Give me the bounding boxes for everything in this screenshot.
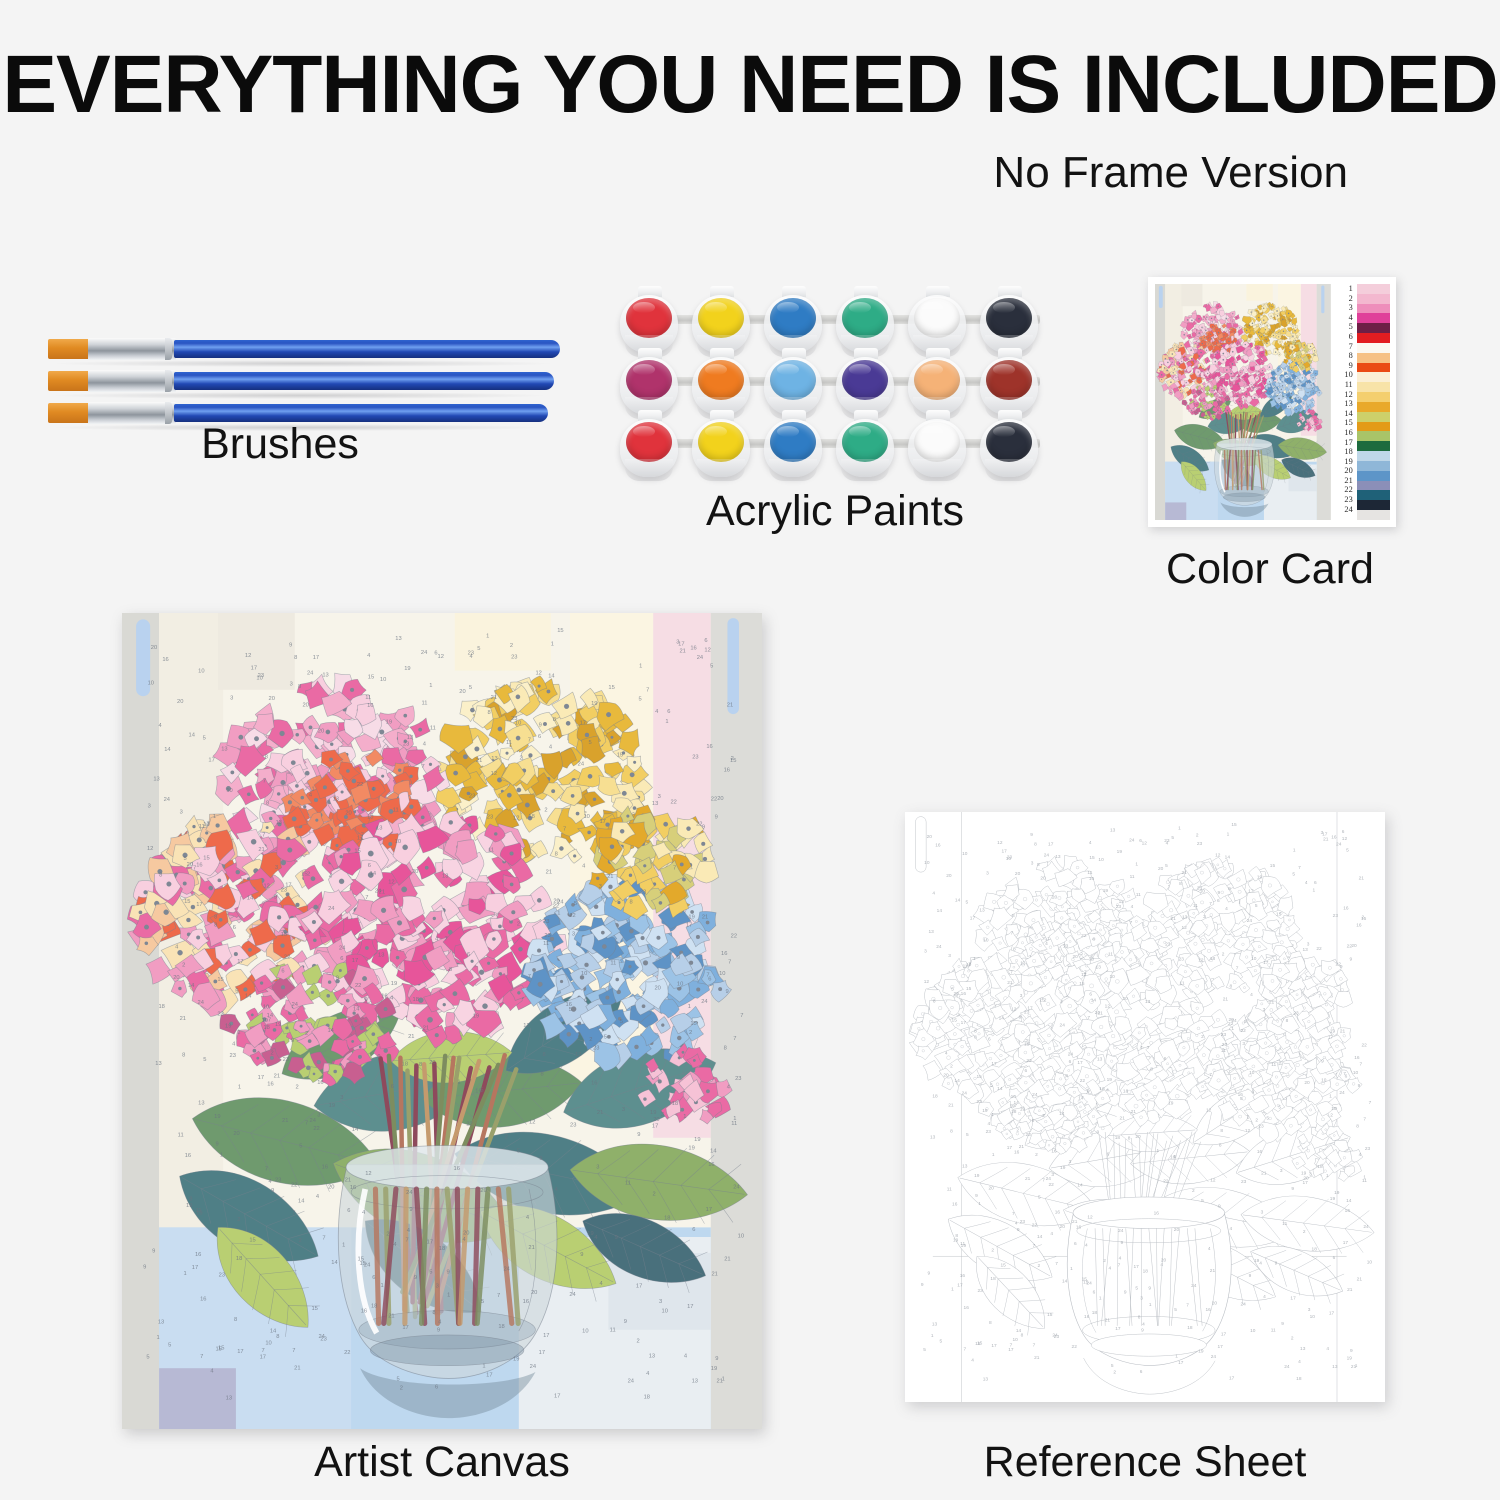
svg-text:22: 22: [1081, 933, 1087, 938]
svg-text:14: 14: [997, 1086, 1003, 1091]
pot-gloss-highlight: [921, 364, 943, 375]
paint-pot-white: [906, 417, 968, 479]
svg-text:10: 10: [1013, 1337, 1019, 1342]
svg-text:10: 10: [263, 1005, 269, 1011]
legend-number: 4: [1335, 313, 1353, 323]
svg-text:5: 5: [1165, 863, 1168, 868]
svg-text:5: 5: [517, 1149, 520, 1155]
svg-text:1: 1: [1157, 1148, 1160, 1153]
svg-text:15: 15: [1270, 863, 1276, 868]
svg-text:24: 24: [328, 906, 335, 912]
svg-text:1: 1: [1326, 1173, 1329, 1178]
legend-number: 5: [1335, 322, 1353, 332]
svg-text:8: 8: [189, 1197, 192, 1203]
svg-text:9: 9: [1019, 1014, 1022, 1019]
svg-text:18: 18: [1143, 1269, 1149, 1274]
svg-text:5: 5: [569, 1007, 572, 1013]
svg-text:17: 17: [1329, 1311, 1335, 1316]
svg-text:12: 12: [523, 1023, 529, 1029]
svg-text:21: 21: [1120, 1115, 1126, 1120]
svg-text:17: 17: [599, 819, 605, 825]
svg-text:24: 24: [406, 1190, 413, 1196]
svg-text:7: 7: [1042, 1178, 1045, 1183]
svg-text:8: 8: [487, 710, 490, 716]
svg-text:9: 9: [1217, 890, 1220, 895]
svg-text:20: 20: [1158, 866, 1164, 871]
svg-text:3: 3: [924, 949, 927, 954]
svg-text:9: 9: [975, 1193, 978, 1198]
svg-text:7: 7: [497, 1293, 500, 1299]
svg-text:3: 3: [1140, 1296, 1143, 1301]
pot-gloss-highlight: [777, 364, 799, 375]
svg-text:5: 5: [1171, 835, 1174, 840]
svg-text:13: 13: [1302, 947, 1308, 952]
svg-text:18: 18: [932, 1094, 938, 1099]
svg-text:19: 19: [974, 1173, 980, 1178]
svg-text:10: 10: [582, 1328, 588, 1334]
legend-swatch-21: [1357, 481, 1390, 491]
svg-text:1: 1: [931, 1333, 934, 1338]
svg-text:16: 16: [708, 1162, 714, 1168]
svg-text:16: 16: [381, 994, 387, 1000]
svg-text:13: 13: [395, 636, 401, 642]
svg-text:20: 20: [927, 834, 933, 839]
svg-text:14: 14: [1077, 1182, 1083, 1187]
svg-text:10: 10: [677, 981, 683, 987]
pot-gloss-highlight: [921, 426, 943, 437]
svg-text:3: 3: [275, 865, 278, 871]
svg-text:14: 14: [999, 1015, 1005, 1020]
brush-shadow: [56, 360, 550, 367]
legend-swatch-23: [1357, 500, 1390, 510]
svg-text:8: 8: [1356, 1124, 1359, 1129]
svg-text:9: 9: [1065, 1073, 1068, 1078]
svg-text:7: 7: [265, 1166, 268, 1172]
svg-text:20: 20: [1174, 1227, 1180, 1232]
svg-text:23: 23: [1197, 841, 1203, 846]
svg-text:18: 18: [528, 814, 534, 820]
svg-text:21: 21: [379, 889, 385, 895]
svg-text:24: 24: [1211, 1354, 1217, 1359]
svg-text:4: 4: [1050, 1231, 1053, 1236]
svg-text:20: 20: [946, 873, 952, 878]
svg-text:23: 23: [1165, 941, 1171, 946]
svg-text:8: 8: [1128, 1136, 1131, 1141]
svg-text:21: 21: [345, 1177, 351, 1183]
brush-bristle-icon: [48, 339, 90, 359]
pot-gloss-highlight: [705, 302, 727, 313]
svg-text:7: 7: [1318, 994, 1321, 999]
svg-text:13: 13: [276, 820, 282, 826]
svg-text:13: 13: [322, 672, 328, 678]
svg-text:3: 3: [948, 953, 951, 958]
svg-text:15: 15: [977, 1341, 983, 1346]
svg-text:3: 3: [317, 1113, 320, 1119]
svg-text:20: 20: [1351, 943, 1357, 948]
svg-text:21: 21: [546, 869, 552, 875]
legend-number: 24: [1335, 505, 1353, 515]
svg-text:19: 19: [694, 1137, 700, 1143]
svg-text:4: 4: [1131, 904, 1134, 909]
svg-text:15: 15: [249, 1237, 255, 1243]
svg-text:9: 9: [1281, 1321, 1284, 1326]
svg-text:13: 13: [1119, 899, 1125, 904]
svg-text:20: 20: [429, 1060, 435, 1066]
svg-text:7: 7: [728, 960, 731, 966]
svg-text:11: 11: [1193, 903, 1198, 908]
svg-text:10: 10: [583, 814, 589, 820]
svg-text:2: 2: [589, 1037, 592, 1043]
svg-text:2: 2: [578, 1033, 581, 1039]
legend-swatch-5: [1357, 323, 1390, 333]
svg-text:11: 11: [610, 960, 616, 966]
svg-text:7: 7: [733, 1036, 736, 1042]
svg-text:2: 2: [991, 1248, 994, 1253]
svg-text:17: 17: [1178, 1360, 1184, 1365]
svg-text:9: 9: [1358, 1083, 1361, 1088]
color-card-legend-numbers: 123456789101112131415161718192021222324: [1335, 284, 1355, 520]
svg-text:2: 2: [653, 1191, 656, 1197]
svg-text:17: 17: [687, 1304, 693, 1310]
svg-text:16: 16: [960, 1273, 966, 1278]
svg-text:22: 22: [1361, 1043, 1367, 1048]
pot-gloss-highlight: [633, 364, 655, 375]
svg-text:15: 15: [1331, 1106, 1337, 1111]
svg-text:23: 23: [281, 887, 287, 893]
svg-text:17: 17: [539, 1350, 545, 1356]
svg-text:15: 15: [1079, 981, 1085, 986]
svg-text:1: 1: [1355, 1363, 1358, 1368]
svg-text:16: 16: [1051, 1149, 1057, 1154]
svg-text:6: 6: [1093, 1290, 1096, 1295]
svg-text:23: 23: [487, 814, 493, 820]
svg-text:18: 18: [1187, 1325, 1193, 1330]
svg-text:16: 16: [1205, 1307, 1211, 1312]
svg-text:7: 7: [445, 937, 448, 943]
svg-text:16: 16: [1345, 1208, 1351, 1213]
svg-text:17: 17: [991, 1343, 997, 1348]
svg-text:21: 21: [1097, 1011, 1103, 1016]
svg-text:1: 1: [557, 910, 560, 916]
svg-text:12: 12: [147, 846, 153, 852]
pot-skirt: [913, 459, 961, 481]
svg-text:22: 22: [1049, 1182, 1055, 1187]
svg-text:16: 16: [350, 1185, 356, 1191]
svg-text:15: 15: [1361, 916, 1367, 921]
svg-text:5: 5: [1292, 871, 1295, 876]
svg-text:21: 21: [388, 1314, 394, 1320]
svg-text:7: 7: [263, 779, 266, 785]
svg-text:11: 11: [178, 1133, 184, 1139]
svg-text:6: 6: [372, 1275, 375, 1281]
svg-text:18: 18: [1210, 956, 1216, 961]
svg-text:6: 6: [704, 638, 707, 644]
svg-text:5: 5: [146, 1355, 149, 1361]
svg-text:23: 23: [1241, 1179, 1247, 1184]
svg-text:1: 1: [457, 1079, 460, 1085]
brush-shadow: [56, 392, 544, 399]
svg-text:5: 5: [1278, 1105, 1281, 1110]
svg-text:23: 23: [1221, 1032, 1227, 1037]
infographic-root: EVERYTHING YOU NEED IS INCLUDED No Frame…: [0, 0, 1500, 1500]
svg-text:21: 21: [258, 847, 264, 853]
svg-text:5: 5: [469, 685, 472, 691]
svg-text:4: 4: [1208, 1246, 1211, 1251]
svg-text:10: 10: [1310, 1314, 1316, 1319]
svg-text:6: 6: [1089, 992, 1092, 997]
svg-text:8: 8: [950, 1129, 953, 1134]
svg-text:17: 17: [1027, 1006, 1033, 1011]
svg-text:14: 14: [247, 896, 254, 902]
svg-text:11: 11: [488, 848, 494, 854]
legend-number: 13: [1335, 399, 1353, 409]
svg-text:2: 2: [637, 1339, 640, 1345]
svg-text:16: 16: [200, 1296, 206, 1302]
legend-swatch-17: [1357, 441, 1390, 451]
svg-text:7: 7: [1363, 1117, 1366, 1122]
svg-text:3: 3: [1309, 1172, 1312, 1177]
svg-text:5: 5: [203, 1057, 206, 1063]
page-title: EVERYTHING YOU NEED IS INCLUDED: [0, 38, 1500, 132]
svg-text:8: 8: [266, 800, 269, 806]
svg-text:17: 17: [1229, 1375, 1235, 1380]
svg-text:6: 6: [1025, 1068, 1028, 1073]
svg-text:5: 5: [940, 1338, 943, 1343]
svg-text:9: 9: [377, 1054, 380, 1060]
svg-text:3: 3: [1051, 1172, 1054, 1177]
svg-text:8: 8: [1138, 1315, 1141, 1320]
svg-text:8: 8: [1228, 886, 1231, 891]
svg-text:13: 13: [226, 1396, 232, 1402]
svg-text:1: 1: [482, 1364, 485, 1370]
pot-gloss-highlight: [993, 302, 1015, 313]
svg-text:3: 3: [599, 884, 602, 890]
svg-text:17: 17: [1007, 1145, 1013, 1150]
svg-text:13: 13: [692, 1378, 698, 1384]
pot-skirt: [769, 459, 817, 481]
svg-text:7: 7: [1012, 1211, 1015, 1216]
svg-text:11: 11: [1282, 1221, 1287, 1226]
svg-text:11: 11: [506, 740, 512, 746]
svg-text:1: 1: [978, 1201, 981, 1206]
svg-text:16: 16: [724, 768, 730, 774]
svg-text:15: 15: [1001, 1262, 1007, 1267]
svg-text:24: 24: [1191, 1283, 1197, 1288]
svg-text:20: 20: [269, 696, 275, 702]
svg-text:16: 16: [952, 1201, 958, 1206]
legend-swatch-16: [1357, 431, 1390, 441]
svg-text:18: 18: [371, 1303, 377, 1309]
svg-text:19: 19: [275, 1022, 281, 1028]
svg-text:24: 24: [1339, 1090, 1345, 1095]
svg-text:9: 9: [624, 1319, 627, 1325]
svg-text:20: 20: [318, 729, 324, 735]
svg-text:17: 17: [285, 882, 291, 888]
svg-text:3: 3: [290, 681, 293, 687]
svg-text:17: 17: [991, 1061, 997, 1066]
paint-pot-dark-red: [978, 355, 1040, 417]
svg-text:10: 10: [380, 677, 386, 683]
svg-text:19: 19: [262, 1018, 268, 1024]
svg-text:20: 20: [328, 1184, 334, 1190]
svg-text:19: 19: [391, 981, 397, 987]
svg-text:1: 1: [1070, 1266, 1073, 1271]
svg-text:16: 16: [361, 1309, 367, 1315]
svg-text:1: 1: [157, 1335, 160, 1341]
svg-text:9: 9: [1349, 957, 1352, 962]
paint-pot-green-teal: [834, 293, 896, 355]
svg-text:21: 21: [1131, 1109, 1137, 1114]
svg-text:11: 11: [731, 1121, 737, 1127]
svg-text:5: 5: [235, 989, 238, 995]
paint-pot-dark-navy: [978, 293, 1040, 355]
svg-text:24: 24: [1336, 841, 1342, 846]
svg-text:13: 13: [1110, 828, 1116, 833]
svg-text:16: 16: [1084, 1314, 1090, 1319]
svg-text:6: 6: [1107, 1151, 1110, 1156]
svg-text:21: 21: [1019, 1144, 1025, 1149]
svg-text:20: 20: [1015, 871, 1021, 876]
svg-text:7: 7: [193, 866, 196, 872]
legend-number: 20: [1335, 466, 1353, 476]
svg-text:12: 12: [575, 1052, 581, 1058]
svg-text:4: 4: [1085, 1243, 1088, 1248]
svg-text:11: 11: [1271, 1062, 1276, 1067]
svg-text:7: 7: [422, 764, 425, 770]
svg-text:23: 23: [986, 1129, 992, 1134]
svg-text:13: 13: [983, 1377, 989, 1382]
svg-text:12: 12: [491, 771, 497, 777]
svg-text:12: 12: [704, 647, 710, 653]
svg-text:7: 7: [1010, 970, 1013, 975]
svg-text:5: 5: [1111, 1363, 1114, 1368]
svg-text:17: 17: [543, 1333, 549, 1339]
legend-swatch-19: [1357, 461, 1390, 471]
svg-text:5: 5: [429, 1269, 432, 1275]
svg-text:12: 12: [1087, 1214, 1093, 1219]
svg-text:24: 24: [1129, 838, 1135, 843]
svg-text:7: 7: [740, 1013, 743, 1019]
svg-text:7: 7: [200, 1354, 203, 1360]
svg-text:8: 8: [1220, 1128, 1223, 1133]
svg-text:8: 8: [553, 717, 556, 723]
svg-text:23: 23: [275, 1177, 281, 1183]
svg-text:4: 4: [1225, 906, 1228, 911]
svg-text:10: 10: [395, 839, 401, 845]
svg-text:17: 17: [1115, 1326, 1121, 1331]
svg-text:9: 9: [615, 1235, 618, 1241]
svg-text:1: 1: [951, 1287, 954, 1292]
svg-text:14: 14: [710, 1149, 717, 1155]
svg-text:4: 4: [1166, 840, 1169, 845]
svg-text:16: 16: [317, 1080, 323, 1086]
svg-text:10: 10: [962, 851, 968, 856]
svg-text:10: 10: [198, 669, 204, 675]
pot-skirt: [625, 459, 673, 481]
svg-text:21: 21: [274, 1074, 280, 1080]
svg-text:9: 9: [1032, 1118, 1035, 1123]
svg-text:7: 7: [1033, 1243, 1036, 1248]
svg-text:15: 15: [730, 758, 736, 764]
svg-text:20: 20: [1060, 1224, 1066, 1229]
svg-text:17: 17: [1133, 1264, 1139, 1269]
svg-text:9: 9: [726, 989, 729, 995]
svg-text:16: 16: [267, 1081, 273, 1087]
svg-text:21: 21: [423, 1026, 429, 1032]
svg-text:8: 8: [1150, 1067, 1153, 1072]
svg-text:12: 12: [1210, 1177, 1216, 1182]
svg-text:20: 20: [1040, 876, 1046, 881]
svg-text:2: 2: [1291, 1336, 1294, 1341]
svg-text:12: 12: [438, 654, 444, 660]
svg-text:13: 13: [1145, 999, 1151, 1004]
svg-text:7: 7: [1130, 920, 1133, 925]
svg-text:1: 1: [1363, 1175, 1366, 1180]
svg-text:21: 21: [1223, 996, 1229, 1001]
svg-text:4: 4: [1140, 1045, 1143, 1050]
svg-text:1: 1: [237, 1029, 240, 1035]
svg-text:11: 11: [625, 1181, 631, 1187]
svg-text:7: 7: [292, 1348, 295, 1354]
svg-text:14: 14: [1062, 1279, 1068, 1284]
svg-text:7: 7: [646, 688, 649, 694]
svg-text:4: 4: [1045, 941, 1048, 946]
paint-pot-blue: [762, 417, 824, 479]
color-card-caption: Color Card: [1120, 545, 1420, 594]
svg-text:3: 3: [436, 1284, 439, 1290]
svg-text:20: 20: [1135, 1134, 1141, 1139]
svg-text:9: 9: [1017, 1227, 1020, 1232]
svg-text:24: 24: [1247, 918, 1253, 923]
svg-text:15: 15: [1047, 1312, 1053, 1317]
svg-text:3: 3: [986, 871, 989, 876]
svg-text:8: 8: [1037, 862, 1040, 867]
svg-text:16: 16: [1055, 1210, 1061, 1215]
svg-text:22: 22: [1072, 1344, 1078, 1349]
color-card-legend-swatches: [1357, 284, 1390, 520]
svg-text:20: 20: [177, 699, 183, 705]
svg-text:9: 9: [928, 1270, 931, 1275]
svg-text:21: 21: [1170, 916, 1176, 921]
svg-text:11: 11: [543, 941, 549, 947]
acrylic-paints-caption: Acrylic Paints: [610, 487, 1060, 536]
svg-text:20: 20: [151, 645, 157, 651]
svg-text:21: 21: [1261, 1170, 1267, 1175]
paint-pot-orange: [690, 355, 752, 417]
svg-text:13: 13: [652, 801, 658, 807]
svg-text:15: 15: [354, 848, 360, 854]
svg-text:16: 16: [1331, 834, 1337, 839]
svg-text:8: 8: [1034, 841, 1037, 846]
svg-text:5: 5: [965, 900, 968, 905]
svg-text:24: 24: [1068, 1051, 1074, 1056]
svg-text:4: 4: [1060, 1000, 1063, 1005]
svg-text:17: 17: [1008, 1347, 1014, 1352]
svg-text:19: 19: [1347, 1356, 1353, 1361]
svg-text:4: 4: [1305, 880, 1308, 885]
svg-text:21: 21: [1072, 1219, 1078, 1224]
svg-text:8: 8: [1021, 1332, 1024, 1337]
svg-text:3: 3: [659, 1299, 662, 1305]
svg-text:3: 3: [340, 1095, 343, 1101]
svg-text:24: 24: [701, 999, 708, 1005]
svg-text:3: 3: [1263, 1007, 1266, 1012]
svg-text:1: 1: [486, 633, 489, 639]
svg-text:17: 17: [1328, 1035, 1334, 1040]
svg-text:22: 22: [466, 1122, 472, 1128]
brush-bristle-icon: [48, 371, 90, 391]
svg-text:13: 13: [649, 1353, 655, 1359]
